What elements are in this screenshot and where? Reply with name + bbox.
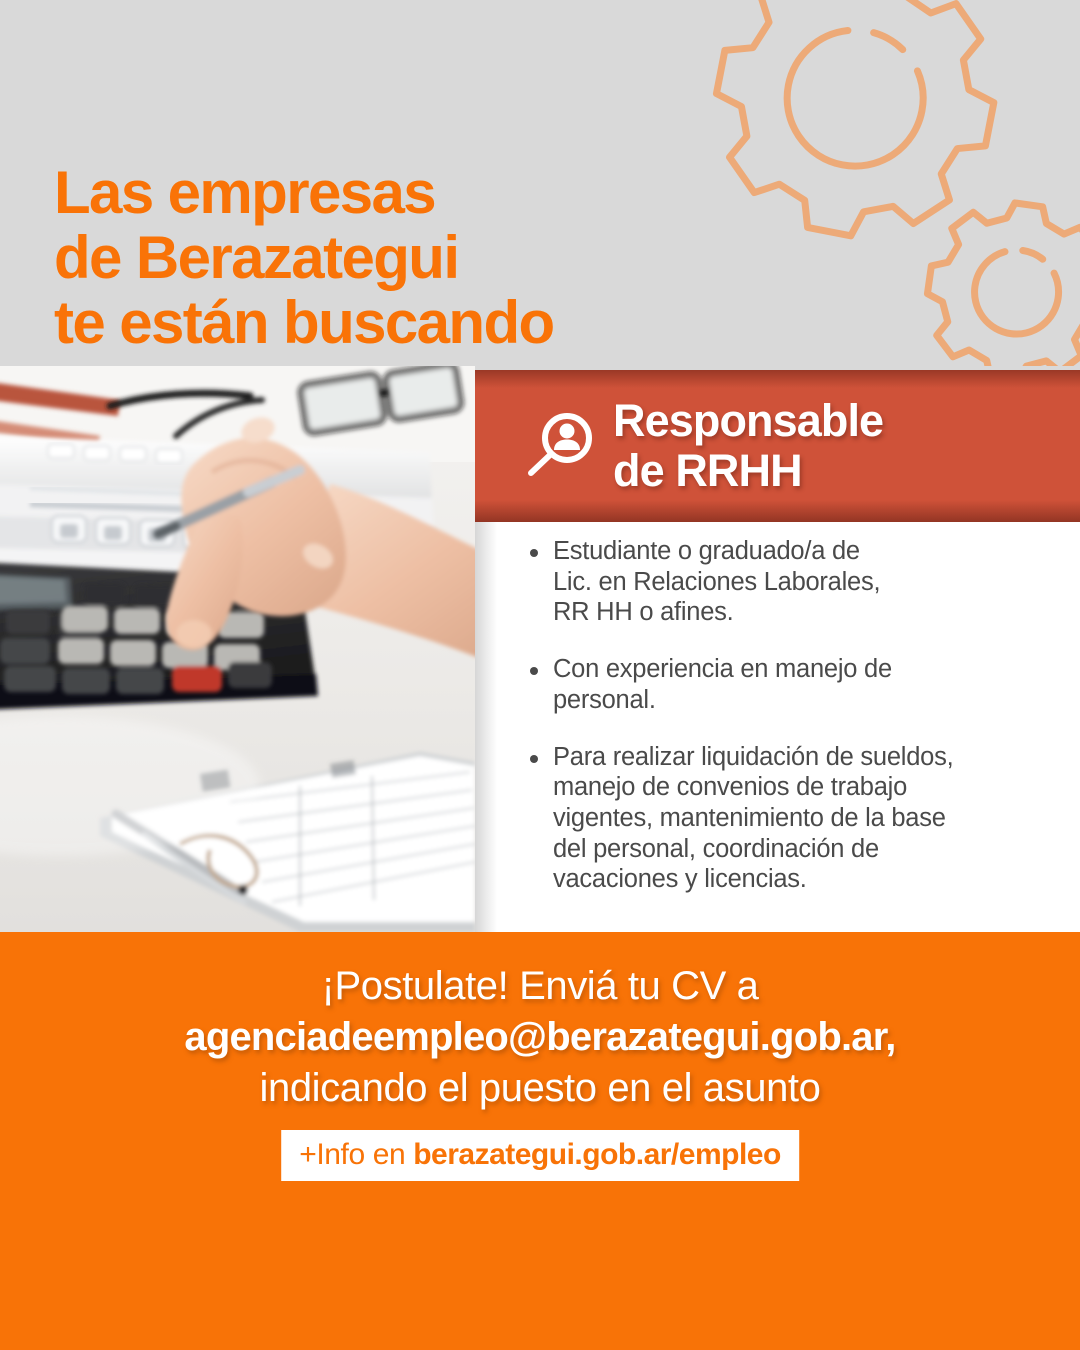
more-info-prefix: +Info en (299, 1138, 413, 1171)
job-title: Responsable de RRHH (613, 396, 883, 495)
cta-email-address[interactable]: agenciadeempleo@berazategui.gob.ar, (0, 1011, 1080, 1063)
gears-decoration-icon (686, 0, 1080, 366)
list-item: Con experiencia en manejo de personal. (527, 654, 1055, 715)
job-title-band: Responsable de RRHH (475, 370, 1080, 522)
office-desk-photo (0, 366, 475, 932)
page-title: Las empresas de Berazategui te están bus… (54, 160, 554, 355)
call-to-action-band: ¡Postulate! Enviá tu CV a agenciadeemple… (0, 932, 1080, 1350)
cta-instruction-line: ¡Postulate! Enviá tu CV a (0, 962, 1080, 1011)
cta-text-block: ¡Postulate! Enviá tu CV a agenciadeemple… (0, 962, 1080, 1114)
requirements-panel: Estudiante o graduado/a de Lic. en Relac… (475, 522, 1080, 932)
person-search-icon (523, 410, 595, 482)
hero-header: Las empresas de Berazategui te están bus… (0, 0, 1080, 366)
more-info-badge[interactable]: +Info en berazategui.gob.ar/empleo (281, 1130, 799, 1181)
more-info-url[interactable]: berazategui.gob.ar/empleo (413, 1138, 781, 1171)
cta-subject-note: indicando el puesto en el asunto (0, 1063, 1080, 1114)
job-posting-poster: Las empresas de Berazategui te están bus… (0, 0, 1080, 1350)
requirements-list: Estudiante o graduado/a de Lic. en Relac… (527, 536, 1055, 921)
list-item: Para realizar liquidación de sueldos, ma… (527, 742, 1055, 896)
list-item: Estudiante o graduado/a de Lic. en Relac… (527, 536, 1055, 628)
